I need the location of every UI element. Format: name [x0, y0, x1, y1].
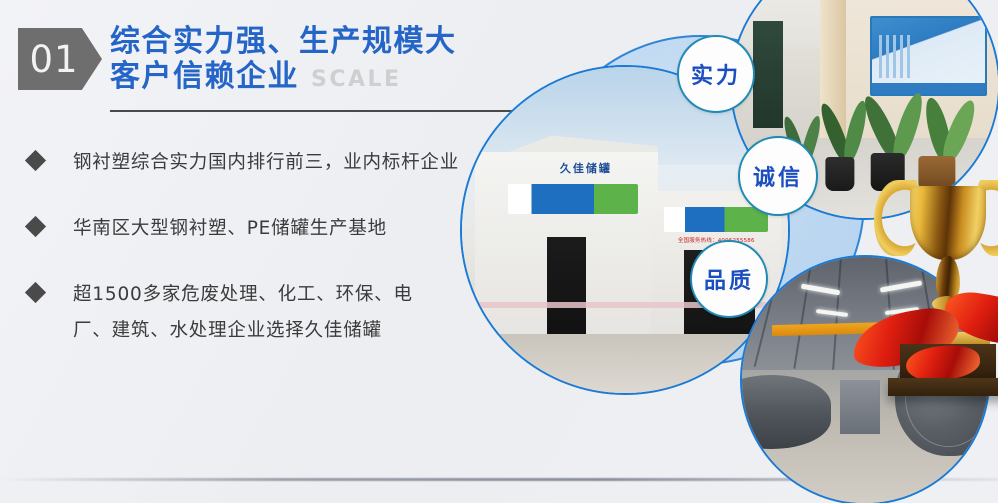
section-number-badge: 01 — [18, 28, 102, 90]
title-english: SCALE — [311, 67, 402, 92]
trophy-graphic — [848, 172, 998, 410]
photo-collage: 久佳储罐 全国服务热线：4006255586 — [440, 0, 998, 503]
list-item: 华南区大型钢衬塑、PE储罐生产基地 — [18, 211, 488, 247]
section-number: 01 — [29, 41, 90, 78]
badge-strength-label: 实力 — [691, 58, 741, 90]
promo-banner: 01 综合实力强、生产规模大 客户信赖企业 SCALE 钢衬塑综合实力国内排行前… — [0, 0, 998, 503]
list-item: 超1500多家危废处理、化工、环保、电 厂、建筑、水处理企业选择久佳储罐 — [18, 277, 488, 349]
badge-strength[interactable]: 实力 — [677, 35, 755, 113]
list-item-label: 华南区大型钢衬塑、PE储罐生产基地 — [73, 211, 387, 247]
feature-list: 钢衬塑综合实力国内排行前三，业内标杆企业 华南区大型钢衬塑、PE储罐生产基地 超… — [18, 145, 488, 379]
diamond-bullet-icon — [25, 150, 46, 171]
diamond-bullet-icon — [25, 282, 46, 303]
title-line-2: 客户信赖企业 — [110, 59, 299, 94]
list-item-label: 超1500多家危废处理、化工、环保、电 厂、建筑、水处理企业选择久佳储罐 — [73, 277, 413, 349]
list-item-label: 钢衬塑综合实力国内排行前三，业内标杆企业 — [73, 145, 459, 181]
list-item: 钢衬塑综合实力国内排行前三，业内标杆企业 — [18, 145, 488, 181]
badge-quality-label: 品质 — [704, 263, 754, 295]
badge-integrity[interactable]: 诚信 — [738, 136, 818, 216]
diamond-bullet-icon — [25, 216, 46, 237]
badge-quality[interactable]: 品质 — [690, 240, 768, 318]
badge-integrity-label: 诚信 — [753, 160, 803, 192]
factory-sign-name: 久佳储罐 — [537, 157, 635, 180]
